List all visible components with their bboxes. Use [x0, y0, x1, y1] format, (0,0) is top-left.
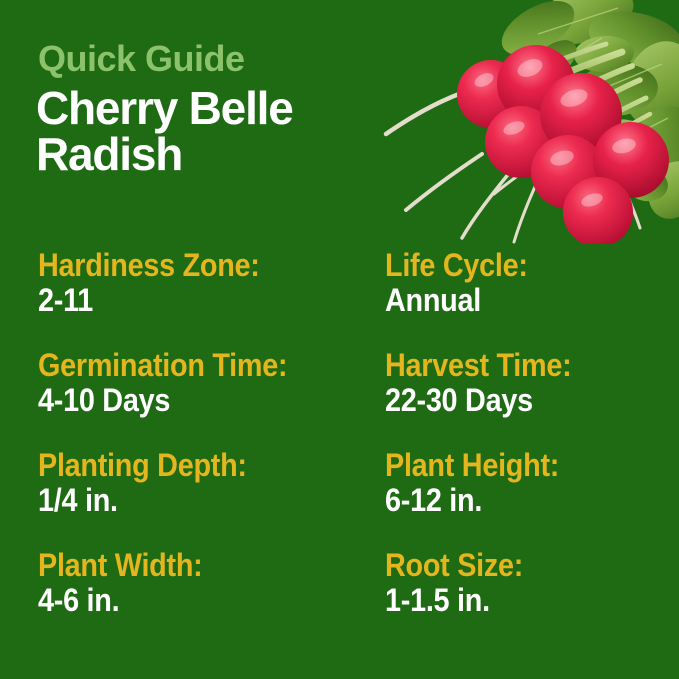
spec-plant-height: Plant Height: 6-12 in.	[385, 449, 658, 549]
spec-label: Life Cycle:	[385, 249, 631, 282]
quick-guide-kicker: Quick Guide	[38, 38, 245, 80]
spec-label: Plant Width:	[38, 549, 350, 582]
radish-bulbs-group	[457, 45, 669, 244]
radish-bunch-photo	[378, 0, 679, 244]
spec-plant-width: Plant Width: 4-6 in.	[38, 549, 385, 649]
spec-value: Annual	[385, 284, 631, 317]
radish-stems-group	[516, 44, 650, 154]
spec-value: 4-6 in.	[38, 584, 350, 617]
spec-grid: Hardiness Zone: 2-11 Life Cycle: Annual …	[38, 249, 658, 649]
title-line-2: Radish	[36, 132, 396, 178]
spec-life-cycle: Life Cycle: Annual	[385, 249, 658, 349]
spec-label: Harvest Time:	[385, 349, 631, 382]
spec-planting-depth: Planting Depth: 1/4 in.	[38, 449, 385, 549]
spec-label: Root Size:	[385, 549, 631, 582]
spec-value: 22-30 Days	[385, 384, 631, 417]
spec-harvest-time: Harvest Time: 22-30 Days	[385, 349, 658, 449]
spec-label: Germination Time:	[38, 349, 350, 382]
spec-label: Planting Depth:	[38, 449, 350, 482]
spec-root-size: Root Size: 1-1.5 in.	[385, 549, 658, 649]
spec-value: 6-12 in.	[385, 484, 631, 517]
spec-germination-time: Germination Time: 4-10 Days	[38, 349, 385, 449]
title-line-1: Cherry Belle	[36, 86, 396, 132]
spec-value: 1-1.5 in.	[385, 584, 631, 617]
spec-label: Hardiness Zone:	[38, 249, 350, 282]
radish-leaves-group	[493, 0, 679, 228]
spec-value: 4-10 Days	[38, 384, 350, 417]
page-title: Cherry Belle Radish	[36, 86, 396, 177]
radish-taproots-group	[386, 90, 640, 244]
spec-label: Plant Height:	[385, 449, 631, 482]
quick-guide-card: Quick Guide Cherry Belle Radish Hardines…	[0, 0, 679, 679]
spec-value: 2-11	[38, 284, 350, 317]
spec-value: 1/4 in.	[38, 484, 350, 517]
spec-hardiness-zone: Hardiness Zone: 2-11	[38, 249, 385, 349]
